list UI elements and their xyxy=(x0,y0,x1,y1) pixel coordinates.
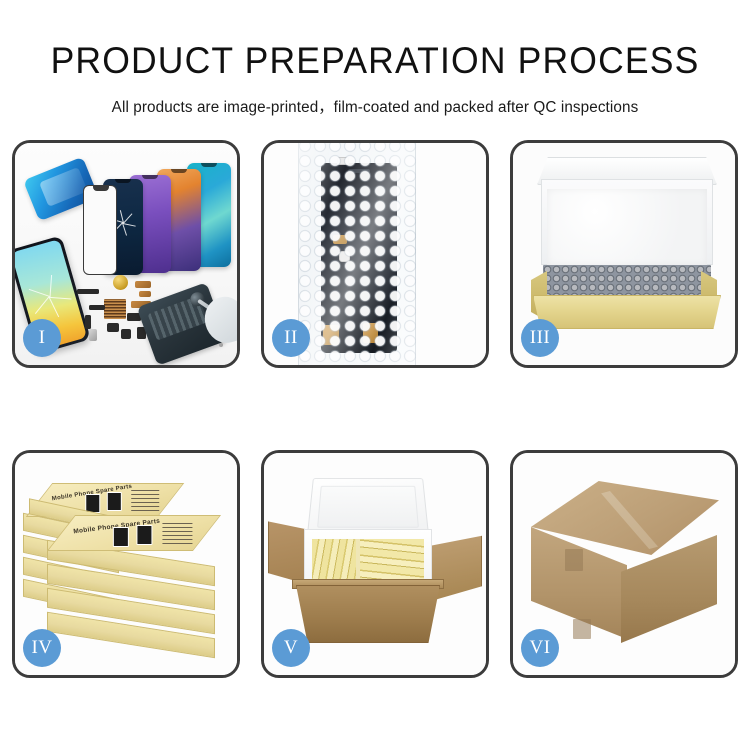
component-flex-b xyxy=(139,291,151,297)
tempered-glass-sheet xyxy=(83,185,117,275)
page-title: PRODUCT PREPARATION PROCESS xyxy=(15,42,735,79)
component-connector-b xyxy=(85,315,91,329)
step-badge-2: II xyxy=(272,319,310,357)
header: PRODUCT PREPARATION PROCESS All products… xyxy=(0,0,750,117)
component-speaker xyxy=(113,275,128,290)
component-ic-c xyxy=(121,329,131,339)
step-badge-1: I xyxy=(23,319,61,357)
component-flex-a xyxy=(135,281,151,288)
component-battery-tab xyxy=(89,329,97,341)
carton-patch-upper xyxy=(565,549,583,571)
process-step-panel-3: III xyxy=(510,140,738,368)
carton-patch-lower xyxy=(573,619,591,639)
white-foam-sheet xyxy=(547,189,707,265)
component-ic-b xyxy=(107,323,119,332)
product-preparation-infographic: PRODUCT PREPARATION PROCESS All products… xyxy=(0,0,750,750)
component-earpiece xyxy=(77,289,99,294)
process-step-panel-6: VI xyxy=(510,450,738,678)
step-badge-6: VI xyxy=(521,629,559,667)
page-subtitle: All products are image-printed，film-coat… xyxy=(6,95,745,117)
process-step-panel-2: II xyxy=(261,140,489,368)
grey-bubble-wrap xyxy=(543,265,711,299)
process-steps-grid: I II xyxy=(12,140,738,678)
carton-body xyxy=(296,585,440,643)
process-step-panel-4: Mobile Phone Spare Parts Mobile Phone Sp… xyxy=(12,450,240,678)
retail-box-printed-front: Mobile Phone Spare Parts xyxy=(47,515,221,551)
component-connector-a xyxy=(89,305,105,310)
step-badge-3: III xyxy=(521,319,559,357)
step-badge-5: V xyxy=(272,629,310,667)
plastic-sheen xyxy=(298,143,416,365)
step-badge-4: IV xyxy=(23,629,61,667)
component-chip-grid xyxy=(104,299,126,319)
component-screw-d xyxy=(219,343,223,347)
process-step-panel-5: V xyxy=(261,450,489,678)
box-front-panel xyxy=(533,295,721,329)
process-step-panel-1: I xyxy=(12,140,240,368)
